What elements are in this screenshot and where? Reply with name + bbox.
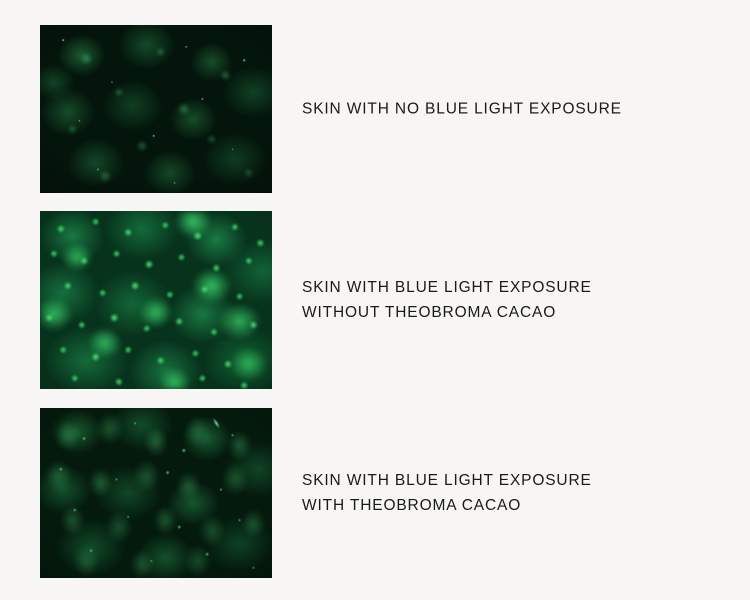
vignette-layer — [40, 25, 272, 193]
comparison-row-no-exposure: Skin with no blue light exposure — [0, 25, 750, 193]
panel-caption-no-exposure: Skin with no blue light exposure — [302, 97, 722, 122]
micrograph-exposure-with-cacao — [40, 408, 272, 578]
panel-caption-without-cacao: Skin with blue light exposure without Th… — [302, 275, 722, 325]
comparison-row-with-cacao: Skin with blue light exposure with Theob… — [0, 408, 750, 578]
panel-caption-with-cacao: Skin with blue light exposure with Theob… — [302, 468, 722, 518]
micrograph-no-exposure — [40, 25, 272, 193]
blue-light-comparison-figure: Skin with no blue light exposure Skin wi… — [0, 0, 750, 600]
vignette-layer — [40, 211, 272, 389]
vignette-layer — [40, 408, 272, 578]
micrograph-exposure-without-cacao — [40, 211, 272, 389]
comparison-row-without-cacao: Skin with blue light exposure without Th… — [0, 211, 750, 389]
